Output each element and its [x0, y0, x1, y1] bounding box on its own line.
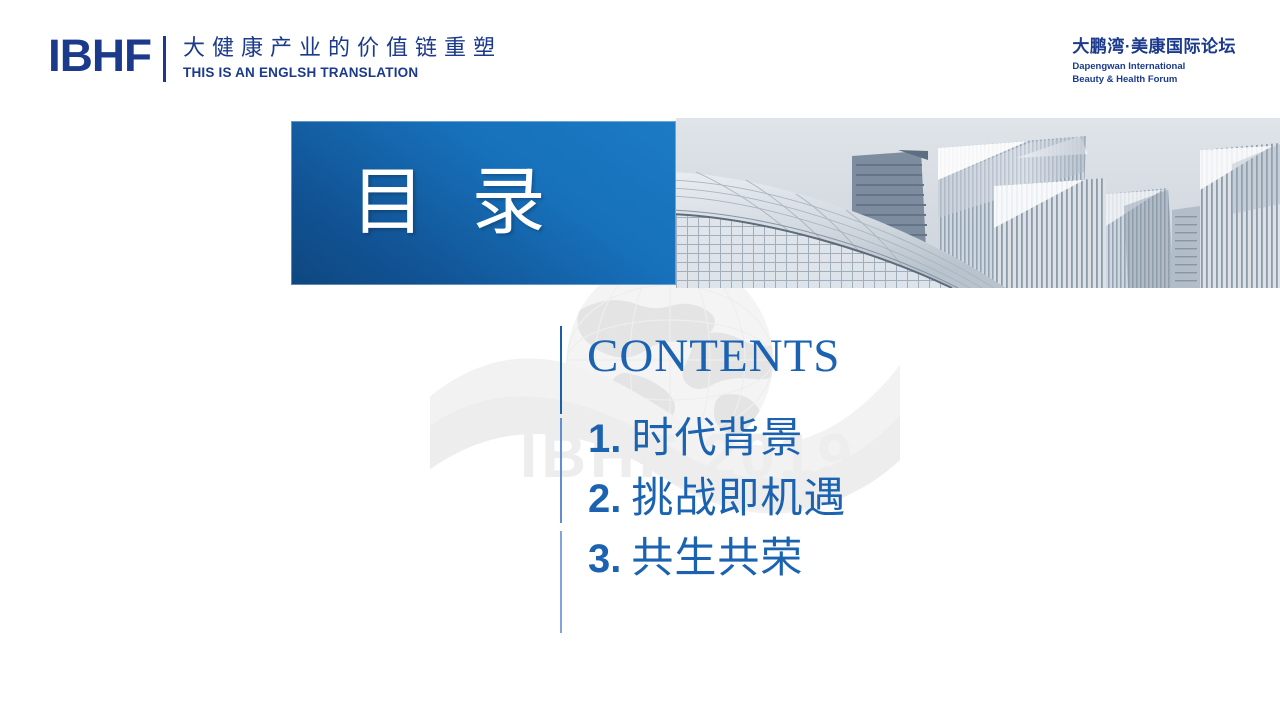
- ibhf-wordmark-logo: IBHF: [48, 33, 151, 79]
- slide-root: IBHF 大健康产业的价值链重塑 THIS IS AN ENGLSH TRANS…: [0, 0, 1280, 720]
- contents-list: 1. 时代背景 2. 挑战即机遇 3. 共生共荣: [588, 414, 1058, 594]
- banner-row: 目 录: [291, 118, 1280, 288]
- list-item-number: 2.: [588, 476, 621, 522]
- contents-rule-segment-3: [560, 531, 562, 633]
- logo-divider: [163, 36, 166, 82]
- contents-banner-block: 目 录: [291, 121, 676, 285]
- city-skyline-photo: [676, 118, 1280, 288]
- header-title-block: 大健康产业的价值链重塑 THIS IS AN ENGLSH TRANSLATIO…: [183, 33, 502, 81]
- forum-name-chinese: 大鹏湾·美康国际论坛: [1072, 36, 1236, 57]
- forum-name-english-line1: Dapengwan International: [1072, 61, 1236, 74]
- list-item-label: 共生共荣: [631, 534, 803, 582]
- list-item[interactable]: 2. 挑战即机遇: [588, 474, 1058, 534]
- header-title-chinese: 大健康产业的价值链重塑: [183, 35, 502, 61]
- list-item-label: 时代背景: [631, 414, 803, 462]
- list-item-label: 挑战即机遇: [631, 474, 846, 522]
- header-brand-group: IBHF 大健康产业的价值链重塑 THIS IS AN ENGLSH TRANS…: [48, 33, 502, 93]
- list-item[interactable]: 1. 时代背景: [588, 414, 1058, 474]
- forum-name-english-line2: Beauty & Health Forum: [1072, 74, 1236, 87]
- contents-heading: CONTENTS: [587, 329, 840, 383]
- list-item-number: 1.: [588, 416, 621, 462]
- contents-rule-segment-1: [560, 326, 562, 414]
- contents-rule-segment-2: [560, 418, 562, 523]
- forum-logo-group: 大鹏湾·美康国际论坛 Dapengwan International Beaut…: [1072, 36, 1236, 86]
- header-title-english: THIS IS AN ENGLSH TRANSLATION: [183, 64, 502, 81]
- banner-title-text: 目 录: [351, 163, 560, 243]
- list-item-number: 3.: [588, 536, 621, 582]
- list-item[interactable]: 3. 共生共荣: [588, 534, 1058, 594]
